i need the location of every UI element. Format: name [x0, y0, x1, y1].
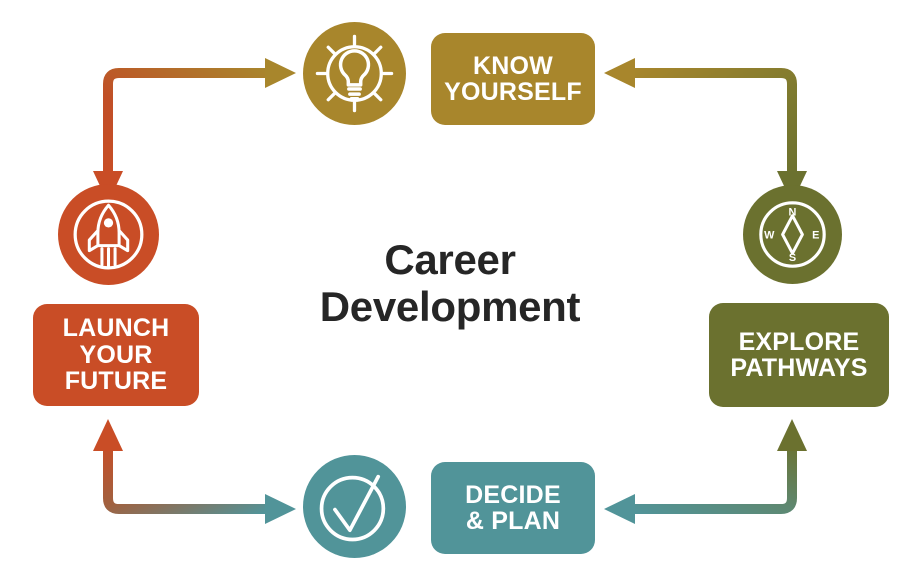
node-label-decide-and-plan: DECIDE & PLAN	[465, 482, 561, 535]
node-label-know-yourself: KNOW YOURSELF	[444, 53, 582, 106]
node-label-launch-your-future: LAUNCH YOUR FUTURE	[63, 315, 170, 395]
node-explore-pathways[interactable]: EXPLORE PATHWAYS	[709, 303, 889, 407]
connector-top-left	[93, 58, 296, 203]
node-know-yourself[interactable]: KNOW YOURSELF	[431, 33, 595, 125]
decide-and-plan-icon-circle[interactable]	[303, 455, 406, 558]
diagram-center-title: Career Development	[250, 236, 650, 330]
connector-bottom-left	[93, 419, 296, 524]
know-yourself-icon-circle[interactable]	[303, 22, 406, 125]
connector-bottom-right	[604, 419, 807, 524]
lightbulb-icon	[303, 22, 406, 125]
compass-east-label: E	[812, 229, 819, 241]
node-launch-your-future[interactable]: LAUNCH YOUR FUTURE	[33, 304, 199, 406]
explore-pathways-icon-circle[interactable]: N E S W	[743, 185, 842, 284]
launch-your-future-icon-circle[interactable]	[58, 184, 159, 285]
check-circle-icon	[303, 455, 406, 558]
rocket-icon	[58, 184, 159, 285]
connector-top-right	[604, 58, 807, 203]
compass-icon: N E S W	[743, 185, 842, 284]
node-decide-and-plan[interactable]: DECIDE & PLAN	[431, 462, 595, 554]
compass-west-label: W	[764, 229, 775, 241]
career-development-diagram: KNOW YOURSELF N E S W EXPLORE PATHWAYS D…	[0, 0, 900, 582]
compass-north-label: N	[789, 207, 797, 219]
compass-south-label: S	[789, 252, 796, 264]
node-label-explore-pathways: EXPLORE PATHWAYS	[730, 329, 867, 382]
